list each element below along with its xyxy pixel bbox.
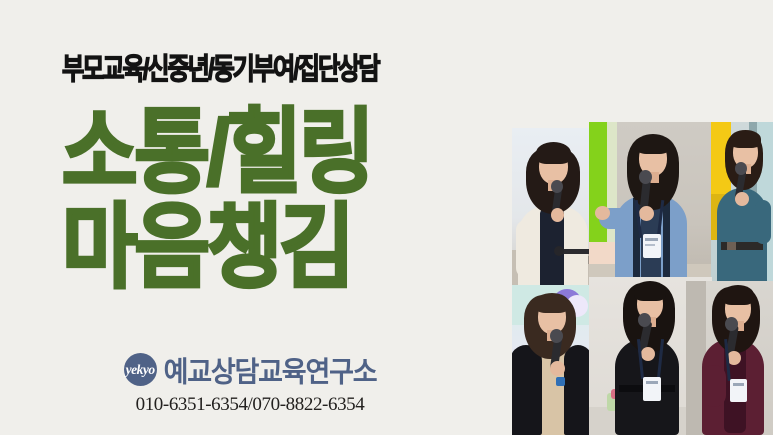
collage-photo-bottom-right xyxy=(686,281,773,435)
photo-collage xyxy=(500,0,773,435)
poster-root: 부모교육/신중년/동기부여/집단상담 소통/힐링 마음챙김 yekyo 예교상담… xyxy=(0,0,773,435)
organization-name: 예교상담교육연구소 xyxy=(164,349,377,390)
yekyo-logo-icon: yekyo xyxy=(124,353,157,386)
collage-photo-bottom-left xyxy=(512,285,590,435)
headline-line-2: 마음챙김 xyxy=(62,203,352,295)
kicker-text: 부모교육/신중년/동기부여/집단상담 xyxy=(62,46,378,88)
collage-photo-top-left xyxy=(512,128,590,291)
headline-line-1: 소통/힐링 xyxy=(62,108,372,200)
contact-phone-numbers: 010-6351-6354/070-8822-6354 xyxy=(0,394,500,416)
collage-photo-top-right xyxy=(711,122,773,289)
text-column: 부모교육/신중년/동기부여/집단상담 소통/힐링 마음챙김 yekyo 예교상담… xyxy=(0,0,500,435)
collage-photo-top-middle xyxy=(589,122,712,291)
logo-wordmark: yekyo xyxy=(126,363,155,377)
brand-logo-row: yekyo 예교상담교육연구소 xyxy=(0,350,500,389)
